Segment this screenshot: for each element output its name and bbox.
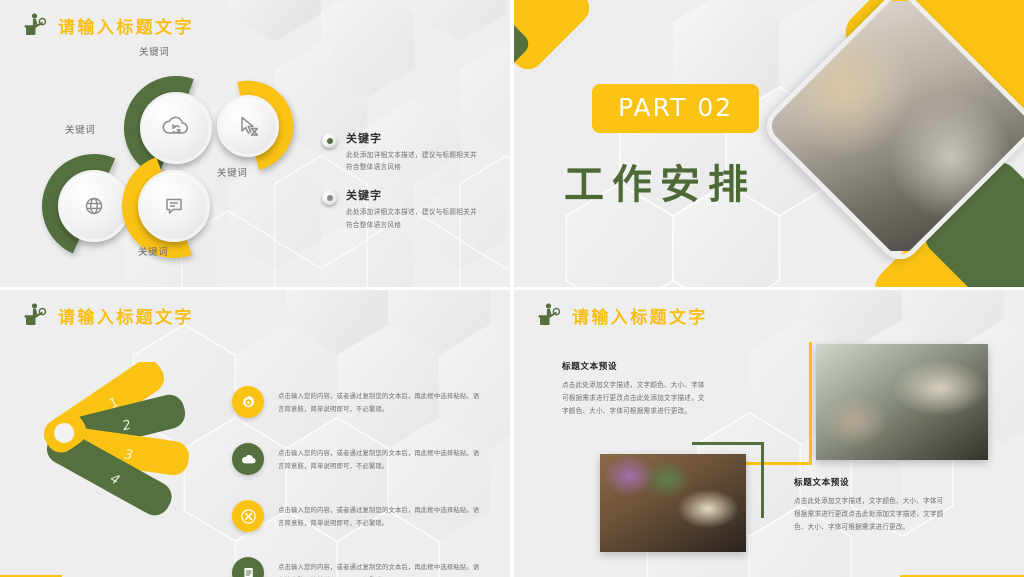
text-block-1: 标题文本预设 点击此处添加文字描述，文字颜色、大小、字体可根据需求进行更改点击此…: [562, 360, 710, 419]
list-item[interactable]: 点击输入您的内容，或者通过复制您的文本后，再此框中选择粘贴。语言简意赅，简单说明…: [232, 443, 484, 488]
fan-blades-infographic: 1 2 3 4: [16, 362, 226, 552]
block-text: 点击此处添加文字描述，文字颜色、大小、字体可根据需求进行更改点击此处添加文字描述…: [562, 379, 710, 419]
chat-bubble-icon: [157, 189, 191, 223]
bullet-item[interactable]: 关键字 此处添加详细文本描述，建议与标题相关并符合整体语言风格: [322, 187, 498, 230]
slide-3-header: 请输入标题文字: [22, 302, 194, 328]
slide-4[interactable]: 请输入标题文字 标题文本预设 点击此处添加文字描述，文字颜色、大小、字体可根据需…: [514, 290, 1024, 577]
bullet-text: 此处添加详细文本描述，建议与标题相关并符合整体语言风格: [346, 149, 481, 173]
slide-4-header: 请输入标题文字: [536, 302, 708, 328]
slide-1-header: 请输入标题文字: [22, 12, 194, 38]
desk-notebook-photo: [600, 454, 746, 552]
list-item[interactable]: 点击输入您的内容，或者通过复制您的文本后，再此框中选择粘贴。语言简意赅，简单说明…: [232, 500, 484, 545]
part-badge: PART 02: [592, 84, 759, 133]
list-item-text: 点击输入您的内容，或者通过复制您的文本后，再此框中选择粘贴。语言简意赅，简单说明…: [278, 561, 484, 577]
cloud-icon: [232, 443, 264, 475]
bullet-title: 关键字: [346, 187, 481, 203]
slide-1-bullet-list: 关键字 此处添加详细文本描述，建议与标题相关并符合整体语言风格 关键字 此处添加…: [322, 130, 498, 245]
slide-3-items: 点击输入您的内容，或者通过复制您的文本后，再此框中选择粘贴。语言简意赅，简单说明…: [232, 386, 484, 577]
block-title: 标题文本预设: [562, 360, 710, 372]
cursor-hourglass-icon: [231, 109, 265, 143]
section-heading: 工作安排: [564, 152, 756, 210]
gear-icon: [232, 386, 264, 418]
globe-icon: [77, 189, 111, 223]
cloud-sync-icon: [159, 111, 193, 145]
laptops-meeting-photo: [816, 344, 988, 460]
ring-item-4[interactable]: [112, 144, 236, 268]
bullet-title: 关键字: [346, 130, 481, 146]
ring-label-2: 关键词: [217, 165, 247, 179]
block-text: 点击此处添加文字描述，文字颜色、大小、字体可根据需求进行更改点击此处添加文字描述…: [794, 495, 944, 535]
list-item-text: 点击输入您的内容，或者通过复制您的文本后，再此框中选择粘贴。语言简意赅，简单说明…: [278, 390, 484, 416]
person-at-desk-icon: [536, 302, 562, 328]
ring-hub-4[interactable]: [138, 170, 210, 242]
slide-1-title: 请输入标题文字: [58, 13, 194, 38]
ring-label-4: 关键词: [138, 244, 168, 258]
green-accent-horizontal: [692, 442, 764, 445]
person-at-desk-icon: [22, 12, 48, 38]
slide-3[interactable]: 请输入标题文字 1 2 3: [0, 290, 510, 577]
yellow-accent-vertical: [809, 342, 812, 464]
ring-label-3: 关键词: [65, 122, 95, 136]
slide-deck-preview: 请输入标题文字: [0, 0, 1024, 577]
bullet-dot-icon: [322, 133, 337, 148]
block-title: 标题文本预设: [794, 476, 944, 488]
text-block-2: 标题文本预设 点击此处添加文字描述，文字颜色、大小、字体可根据需求进行更改点击此…: [794, 476, 944, 535]
list-item-text: 点击输入您的内容，或者通过复制您的文本后，再此框中选择粘贴。语言简意赅，简单说明…: [278, 504, 484, 530]
list-item[interactable]: 点击输入您的内容，或者通过复制您的文本后，再此框中选择粘贴。语言简意赅，简单说明…: [232, 386, 484, 431]
list-item-text: 点击输入您的内容，或者通过复制您的文本后，再此框中选择粘贴。语言简意赅，简单说明…: [278, 447, 484, 473]
ring-infographic: 关键词 关键词 关键词 关键词: [28, 44, 318, 272]
bullet-dot-icon: [322, 190, 337, 205]
person-at-desk-icon: [22, 302, 48, 328]
slide-3-title: 请输入标题文字: [58, 303, 194, 328]
list-item[interactable]: 点击输入您的内容，或者通过复制您的文本后，再此框中选择粘贴。语言简意赅，简单说明…: [232, 557, 484, 577]
document-icon: [232, 557, 264, 577]
bullet-text: 此处添加详细文本描述，建议与标题相关并符合整体语言风格: [346, 206, 481, 230]
slide-2[interactable]: PART 02 工作安排: [514, 0, 1024, 287]
slide-4-title: 请输入标题文字: [572, 303, 708, 328]
close-x-icon: [232, 500, 264, 532]
ring-label-1: 关键词: [139, 44, 169, 58]
bullet-item[interactable]: 关键字 此处添加详细文本描述，建议与标题相关并符合整体语言风格: [322, 130, 498, 173]
green-accent-vertical: [761, 442, 764, 518]
slide-1[interactable]: 请输入标题文字: [0, 0, 510, 287]
